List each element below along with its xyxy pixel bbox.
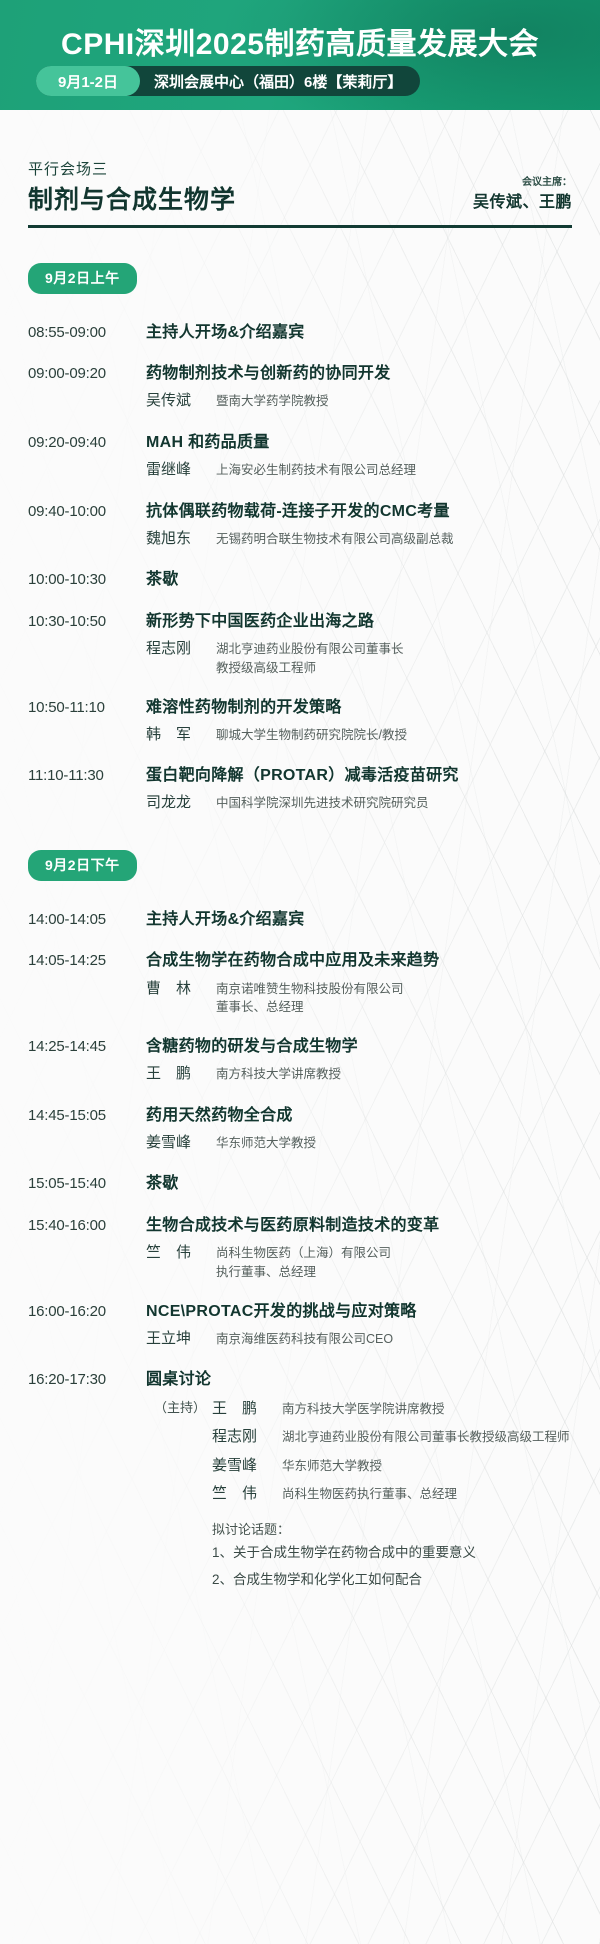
roundtable-participant: 竺 伟尚科生物医药执行董事、总经理 <box>146 1483 572 1506</box>
discussion-topic-item: 2、合成生物学和化学化工如何配合 <box>212 1567 572 1593</box>
speaker-affiliation-line2: 董事长、总经理 <box>216 998 572 1017</box>
speaker-entry: 雷继峰上海安必生制药技术有限公司总经理 <box>146 459 572 482</box>
agenda-row-body: 难溶性药物制剂的开发策略韩 军聊城大学生物制药研究院院长/教授 <box>136 696 572 747</box>
agenda-row-body: 药物制剂技术与创新药的协同开发吴传斌暨南大学药学院教授 <box>136 362 572 413</box>
agenda-row-body: 生物合成技术与医药原料制造技术的变革竺 伟尚科生物医药（上海）有限公司执行董事、… <box>136 1214 572 1282</box>
agenda-row: 09:40-10:00抗体偶联药物载荷-连接子开发的CMC考量魏旭东无锡药明合联… <box>0 491 600 560</box>
agenda-time: 09:40-10:00 <box>28 500 136 524</box>
roundtable-affiliation-line2: 教授级高级工程师 <box>470 1430 570 1444</box>
agenda-time: 14:25-14:45 <box>28 1035 136 1059</box>
speaker-entry: 竺 伟尚科生物医药（上海）有限公司执行董事、总经理 <box>146 1242 572 1282</box>
speaker-affiliation: 尚科生物医药（上海）有限公司执行董事、总经理 <box>208 1242 572 1282</box>
speaker-affiliation-line2: 执行董事、总经理 <box>216 1263 572 1282</box>
speaker-affiliation: 华东师范大学教授 <box>208 1132 572 1153</box>
agenda-row-body: 茶歇 <box>136 1172 572 1195</box>
speaker-affiliation: 暨南大学药学院教授 <box>208 390 572 411</box>
day-badge-2: 9月2日下午 <box>28 850 137 881</box>
agenda-row: 16:00-16:20NCE\PROTAC开发的挑战与应对策略王立坤南京海维医药… <box>0 1291 600 1360</box>
roundtable-name: 姜雪峰 <box>212 1455 274 1478</box>
agenda-topic: 抗体偶联药物载荷-连接子开发的CMC考量 <box>146 500 572 523</box>
speaker-name: 竺 伟 <box>146 1242 208 1265</box>
banner-info-strip: 9月1-2日 深圳会展中心（福田）6楼【茉莉厅】 <box>36 66 420 96</box>
agenda-row-body: 主持人开场&介绍嘉宾 <box>136 321 572 344</box>
speaker-affiliation: 南方科技大学讲席教授 <box>208 1063 572 1084</box>
agenda-row: 15:05-15:40茶歇 <box>0 1163 600 1205</box>
speaker-affiliation: 南京诺唯赞生物科技股份有限公司董事长、总经理 <box>208 978 572 1018</box>
agenda-time: 15:40-16:00 <box>28 1214 136 1238</box>
discussion-topics-heading: 拟讨论话题： <box>212 1520 572 1541</box>
title-divider <box>28 225 572 228</box>
agenda-row-body: 蛋白靶向降解（PROTAR）减毒活疫苗研究司龙龙中国科学院深圳先进技术研究院研究… <box>136 764 572 815</box>
agenda-page: 平行会场三 制剂与合成生物学 会议主席： 吴传斌、王鹏 9月2日上午08:55-… <box>0 110 600 1944</box>
agenda-row: 08:55-09:00主持人开场&介绍嘉宾 <box>0 312 600 354</box>
agenda-row: 14:05-14:25合成生物学在药物合成中应用及未来趋势曹 林南京诺唯赞生物科… <box>0 940 600 1026</box>
speaker-entry: 程志刚湖北亨迪药业股份有限公司董事长教授级高级工程师 <box>146 638 572 678</box>
agenda-topic: 药物制剂技术与创新药的协同开发 <box>146 362 572 385</box>
agenda-topic: 茶歇 <box>146 568 572 591</box>
discussion-topics: 拟讨论话题：1、关于合成生物学在药物合成中的重要意义2、合成生物学和化学化工如何… <box>212 1520 572 1593</box>
agenda-topic: 含糖药物的研发与合成生物学 <box>146 1035 572 1058</box>
session-header: 平行会场三 制剂与合成生物学 会议主席： 吴传斌、王鹏 <box>28 159 572 237</box>
speaker-affiliation-line2: 教授级高级工程师 <box>216 659 572 678</box>
agenda-row: 14:00-14:05主持人开场&介绍嘉宾 <box>0 899 600 941</box>
agenda-topic: 难溶性药物制剂的开发策略 <box>146 696 572 719</box>
roundtable-name: 王 鹏 <box>212 1398 274 1421</box>
roundtable-affiliation: 华东师范大学教授 <box>274 1455 572 1476</box>
speaker-entry: 曹 林南京诺唯赞生物科技股份有限公司董事长、总经理 <box>146 978 572 1018</box>
agenda-row: 10:00-10:30茶歇 <box>0 559 600 601</box>
agenda-time: 10:50-11:10 <box>28 696 136 720</box>
roundtable-participant: （主持）王 鹏南方科技大学医学院讲席教授 <box>146 1398 572 1421</box>
agenda-topic: 蛋白靶向降解（PROTAR）减毒活疫苗研究 <box>146 764 572 787</box>
day-badge-1: 9月2日上午 <box>28 263 137 294</box>
agenda-topic: 合成生物学在药物合成中应用及未来趋势 <box>146 949 572 972</box>
agenda-time: 10:00-10:30 <box>28 568 136 592</box>
agenda-time: 10:30-10:50 <box>28 610 136 634</box>
speaker-name: 魏旭东 <box>146 528 208 551</box>
session-kicker: 平行会场三 <box>28 159 236 182</box>
agenda-time: 14:45-15:05 <box>28 1104 136 1128</box>
roundtable-participant: 程志刚湖北亨迪药业股份有限公司董事长教授级高级工程师 <box>146 1426 572 1449</box>
agenda-time: 16:20-17:30 <box>28 1368 136 1392</box>
chair-names: 吴传斌、王鹏 <box>473 192 572 214</box>
agenda-time: 16:00-16:20 <box>28 1300 136 1324</box>
speaker-affiliation: 南京海维医药科技有限公司CEO <box>208 1328 572 1349</box>
agenda-topic: 茶歇 <box>146 1172 572 1195</box>
speaker-entry: 司龙龙中国科学院深圳先进技术研究院研究员 <box>146 792 572 815</box>
roundtable-participant: 姜雪峰华东师范大学教授 <box>146 1455 572 1478</box>
speaker-name: 王 鹏 <box>146 1063 208 1086</box>
speaker-name: 程志刚 <box>146 638 208 661</box>
agenda-row: 10:30-10:50新形势下中国医药企业出海之路程志刚湖北亨迪药业股份有限公司… <box>0 601 600 687</box>
agenda-time: 11:10-11:30 <box>28 764 136 788</box>
event-title: CPHI深圳2025制药高质量发展大会 <box>0 19 600 63</box>
speaker-name: 曹 林 <box>146 978 208 1001</box>
speaker-name: 韩 军 <box>146 724 208 747</box>
agenda-time: 09:00-09:20 <box>28 362 136 386</box>
agenda-list-1: 08:55-09:00主持人开场&介绍嘉宾09:00-09:20药物制剂技术与创… <box>0 312 600 824</box>
roundtable-name: 程志刚 <box>212 1426 274 1449</box>
roundtable-role: （主持） <box>146 1398 212 1419</box>
agenda-content: 平行会场三 制剂与合成生物学 会议主席： 吴传斌、王鹏 9月2日上午08:55-… <box>0 159 600 1602</box>
agenda-row-roundtable: 16:20-17:30圆桌讨论（主持）王 鹏南方科技大学医学院讲席教授程志刚湖北… <box>0 1359 600 1602</box>
speaker-name: 司龙龙 <box>146 792 208 815</box>
speaker-entry: 王 鹏南方科技大学讲席教授 <box>146 1063 572 1086</box>
agenda-time: 14:05-14:25 <box>28 949 136 973</box>
speaker-name: 吴传斌 <box>146 390 208 413</box>
chair-label: 会议主席： <box>473 175 572 190</box>
agenda-topic: MAH 和药品质量 <box>146 431 572 454</box>
agenda-row-body: 药用天然药物全合成姜雪峰华东师范大学教授 <box>136 1104 572 1155</box>
agenda-row-body: NCE\PROTAC开发的挑战与应对策略王立坤南京海维医药科技有限公司CEO <box>136 1300 572 1351</box>
agenda-row-body: 圆桌讨论（主持）王 鹏南方科技大学医学院讲席教授程志刚湖北亨迪药业股份有限公司董… <box>136 1368 572 1593</box>
speaker-entry: 魏旭东无锡药明合联生物技术有限公司高级副总裁 <box>146 528 572 551</box>
speaker-entry: 韩 军聊城大学生物制药研究院院长/教授 <box>146 724 572 747</box>
agenda-time: 08:55-09:00 <box>28 321 136 345</box>
speaker-affiliation: 聊城大学生物制药研究院院长/教授 <box>208 724 572 745</box>
agenda-blocks: 9月2日上午08:55-09:00主持人开场&介绍嘉宾09:00-09:20药物… <box>0 237 600 1602</box>
agenda-row: 14:25-14:45含糖药物的研发与合成生物学王 鹏南方科技大学讲席教授 <box>0 1026 600 1095</box>
speaker-name: 王立坤 <box>146 1328 208 1351</box>
event-venue: 深圳会展中心（福田）6楼【茉莉厅】 <box>140 71 402 92</box>
agenda-time: 14:00-14:05 <box>28 908 136 932</box>
agenda-row-body: 含糖药物的研发与合成生物学王 鹏南方科技大学讲席教授 <box>136 1035 572 1086</box>
agenda-topic: 主持人开场&介绍嘉宾 <box>146 908 572 931</box>
agenda-time: 15:05-15:40 <box>28 1172 136 1196</box>
agenda-list-2: 14:00-14:05主持人开场&介绍嘉宾14:05-14:25合成生物学在药物… <box>0 899 600 1602</box>
agenda-row: 14:45-15:05药用天然药物全合成姜雪峰华东师范大学教授 <box>0 1095 600 1164</box>
agenda-row-body: 主持人开场&介绍嘉宾 <box>136 908 572 931</box>
speaker-name: 姜雪峰 <box>146 1132 208 1155</box>
event-banner: CPHI深圳2025制药高质量发展大会 9月1-2日 深圳会展中心（福田）6楼【… <box>0 0 600 110</box>
discussion-topic-item: 1、关于合成生物学在药物合成中的重要意义 <box>212 1540 572 1566</box>
speaker-affiliation: 无锡药明合联生物技术有限公司高级副总裁 <box>208 528 572 549</box>
agenda-topic: 圆桌讨论 <box>146 1368 572 1391</box>
agenda-row: 11:10-11:30蛋白靶向降解（PROTAR）减毒活疫苗研究司龙龙中国科学院… <box>0 755 600 824</box>
event-date-badge: 9月1-2日 <box>36 66 140 96</box>
agenda-row: 09:00-09:20药物制剂技术与创新药的协同开发吴传斌暨南大学药学院教授 <box>0 353 600 422</box>
agenda-row: 09:20-09:40MAH 和药品质量雷继峰上海安必生制药技术有限公司总经理 <box>0 422 600 491</box>
agenda-time: 09:20-09:40 <box>28 431 136 455</box>
agenda-row-body: MAH 和药品质量雷继峰上海安必生制药技术有限公司总经理 <box>136 431 572 482</box>
agenda-row-body: 茶歇 <box>136 568 572 591</box>
session-title: 制剂与合成生物学 <box>28 185 236 216</box>
agenda-topic: 新形势下中国医药企业出海之路 <box>146 610 572 633</box>
agenda-topic: NCE\PROTAC开发的挑战与应对策略 <box>146 1300 572 1323</box>
agenda-topic: 药用天然药物全合成 <box>146 1104 572 1127</box>
roundtable-affiliation: 南方科技大学医学院讲席教授 <box>274 1398 572 1419</box>
agenda-row: 15:40-16:00生物合成技术与医药原料制造技术的变革竺 伟尚科生物医药（上… <box>0 1205 600 1291</box>
speaker-entry: 姜雪峰华东师范大学教授 <box>146 1132 572 1155</box>
agenda-topic: 主持人开场&介绍嘉宾 <box>146 321 572 344</box>
roundtable-name: 竺 伟 <box>212 1483 274 1506</box>
agenda-row-body: 抗体偶联药物载荷-连接子开发的CMC考量魏旭东无锡药明合联生物技术有限公司高级副… <box>136 500 572 551</box>
agenda-topic: 生物合成技术与医药原料制造技术的变革 <box>146 1214 572 1237</box>
speaker-affiliation: 湖北亨迪药业股份有限公司董事长教授级高级工程师 <box>208 638 572 678</box>
speaker-entry: 吴传斌暨南大学药学院教授 <box>146 390 572 413</box>
speaker-affiliation: 上海安必生制药技术有限公司总经理 <box>208 459 572 480</box>
speaker-name: 雷继峰 <box>146 459 208 482</box>
speaker-entry: 王立坤南京海维医药科技有限公司CEO <box>146 1328 572 1351</box>
speaker-affiliation: 中国科学院深圳先进技术研究院研究员 <box>208 792 572 813</box>
agenda-row-body: 合成生物学在药物合成中应用及未来趋势曹 林南京诺唯赞生物科技股份有限公司董事长、… <box>136 949 572 1017</box>
agenda-row: 10:50-11:10难溶性药物制剂的开发策略韩 军聊城大学生物制药研究院院长/… <box>0 687 600 756</box>
roundtable-affiliation: 尚科生物医药执行董事、总经理 <box>274 1483 572 1504</box>
roundtable-affiliation: 湖北亨迪药业股份有限公司董事长教授级高级工程师 <box>274 1426 572 1447</box>
agenda-row-body: 新形势下中国医药企业出海之路程志刚湖北亨迪药业股份有限公司董事长教授级高级工程师 <box>136 610 572 678</box>
